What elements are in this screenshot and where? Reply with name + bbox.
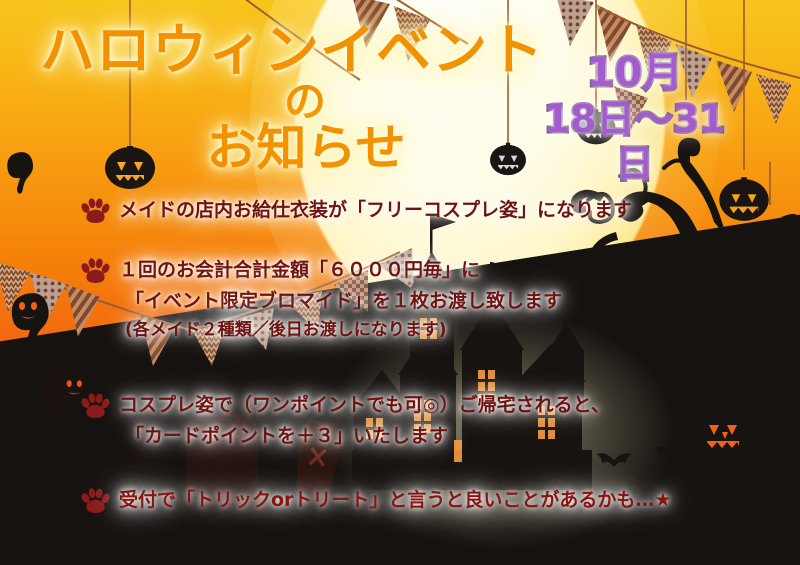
paw-print-icon xyxy=(80,393,110,420)
list-item-line: 「カードポイントを＋３」いたします xyxy=(119,421,610,452)
list-item-lines: 受付で「トリックorトリート」と言うと良いことがあるかも…★ xyxy=(119,485,671,516)
list-item-lines: コスプレ姿で（ワンポイントでも可◎）ご帰宅されると、 「カードポイントを＋３」い… xyxy=(119,390,610,452)
paw-print-icon xyxy=(80,488,110,515)
list-item-lines: メイドの店内お給仕衣装が「フリーコスプレ姿」になります xyxy=(119,195,632,226)
list-item-line: メイドの店内お給仕衣装が「フリーコスプレ姿」になります xyxy=(119,195,632,226)
list-item-line: 受付で「トリックorトリート」と言うと良いことがあるかも…★ xyxy=(119,485,671,516)
list-item-note: (各メイド２種類／後日お渡しになります) xyxy=(119,317,562,345)
list-item-line: 「イベント限定ブロマイド」を１枚お渡し致します xyxy=(119,286,562,317)
list-item: コスプレ姿で（ワンポイントでも可◎）ご帰宅されると、 「カードポイントを＋３」い… xyxy=(80,390,610,452)
list-item: 受付で「トリックorトリート」と言うと良いことがあるかも…★ xyxy=(80,485,671,516)
paw-print-icon xyxy=(80,198,110,225)
halloween-event-poster: ハロウィンイベント の お知らせ 10月 18日～31日 メイドの店内お給仕衣装… xyxy=(0,0,800,565)
list-item-line: １回のお会計合計金額「６０００円毎」に xyxy=(119,255,562,286)
list-item-line: コスプレ姿で（ワンポイントでも可◎）ご帰宅されると、 xyxy=(119,390,610,421)
list-item: メイドの店内お給仕衣装が「フリーコスプレ姿」になります xyxy=(80,195,632,226)
event-details-list: メイドの店内お給仕衣装が「フリーコスプレ姿」になります １回のお会計合計金額「６… xyxy=(0,0,800,565)
list-item: １回のお会計合計金額「６０００円毎」に 「イベント限定ブロマイド」を１枚お渡し致… xyxy=(80,255,562,344)
list-item-lines: １回のお会計合計金額「６０００円毎」に 「イベント限定ブロマイド」を１枚お渡し致… xyxy=(119,255,562,344)
paw-print-icon xyxy=(80,258,110,285)
